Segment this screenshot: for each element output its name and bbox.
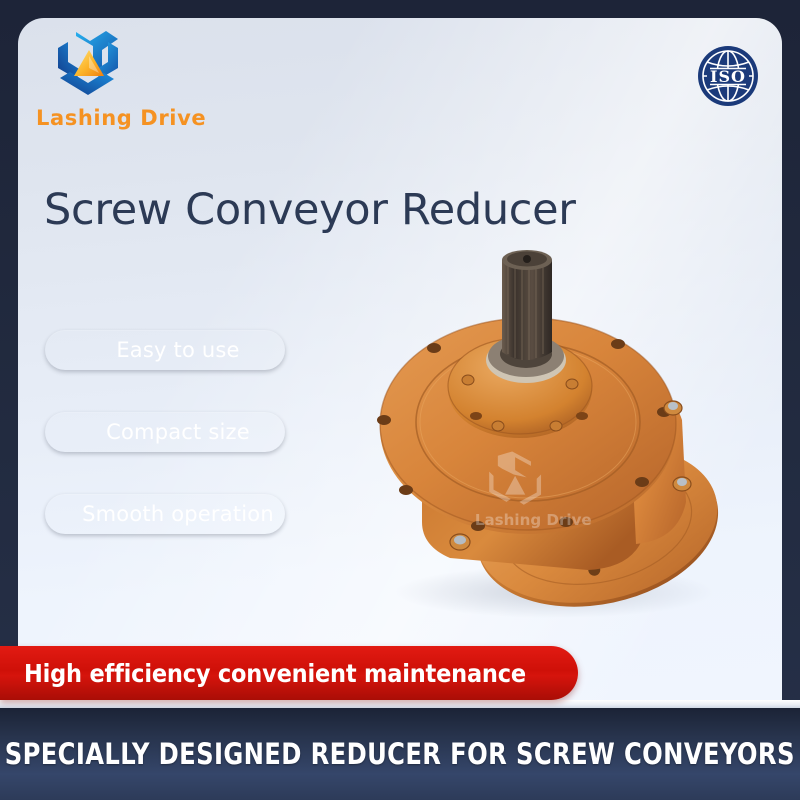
feature-label: Compact size	[45, 420, 285, 444]
highlight-banner-text: High efficiency convenient maintenance	[0, 659, 526, 688]
footer-text: SPECIALLY DESIGNED REDUCER FOR SCREW CON…	[5, 737, 795, 771]
footer-bar: SPECIALLY DESIGNED REDUCER FOR SCREW CON…	[0, 708, 800, 800]
page-title: Screw Conveyor Reducer	[44, 185, 576, 235]
panel-divider	[0, 700, 800, 708]
highlight-banner: High efficiency convenient maintenance	[0, 646, 578, 700]
brand-wordmark: Lashing Drive	[36, 106, 216, 130]
product-image: Lashing Drive	[330, 240, 760, 620]
feature-list: Easy to use Compact size Smooth operatio…	[45, 330, 285, 576]
svg-text:Lashing Drive: Lashing Drive	[475, 511, 592, 529]
iso-certification-badge: ISO	[694, 42, 762, 110]
feature-label: Easy to use	[45, 338, 285, 362]
hexagon-arrow-logo-icon	[46, 26, 132, 104]
brand-logo: Lashing Drive	[36, 26, 216, 151]
feature-pill-1[interactable]: Easy to use	[45, 330, 285, 370]
feature-pill-3[interactable]: Smooth operation	[45, 494, 285, 534]
feature-label: Smooth operation	[45, 502, 285, 526]
iso-globe-icon: ISO	[694, 42, 762, 110]
product-poster: Lashing Drive	[0, 0, 800, 800]
svg-text:ISO: ISO	[710, 67, 746, 86]
feature-pill-2[interactable]: Compact size	[45, 412, 285, 452]
